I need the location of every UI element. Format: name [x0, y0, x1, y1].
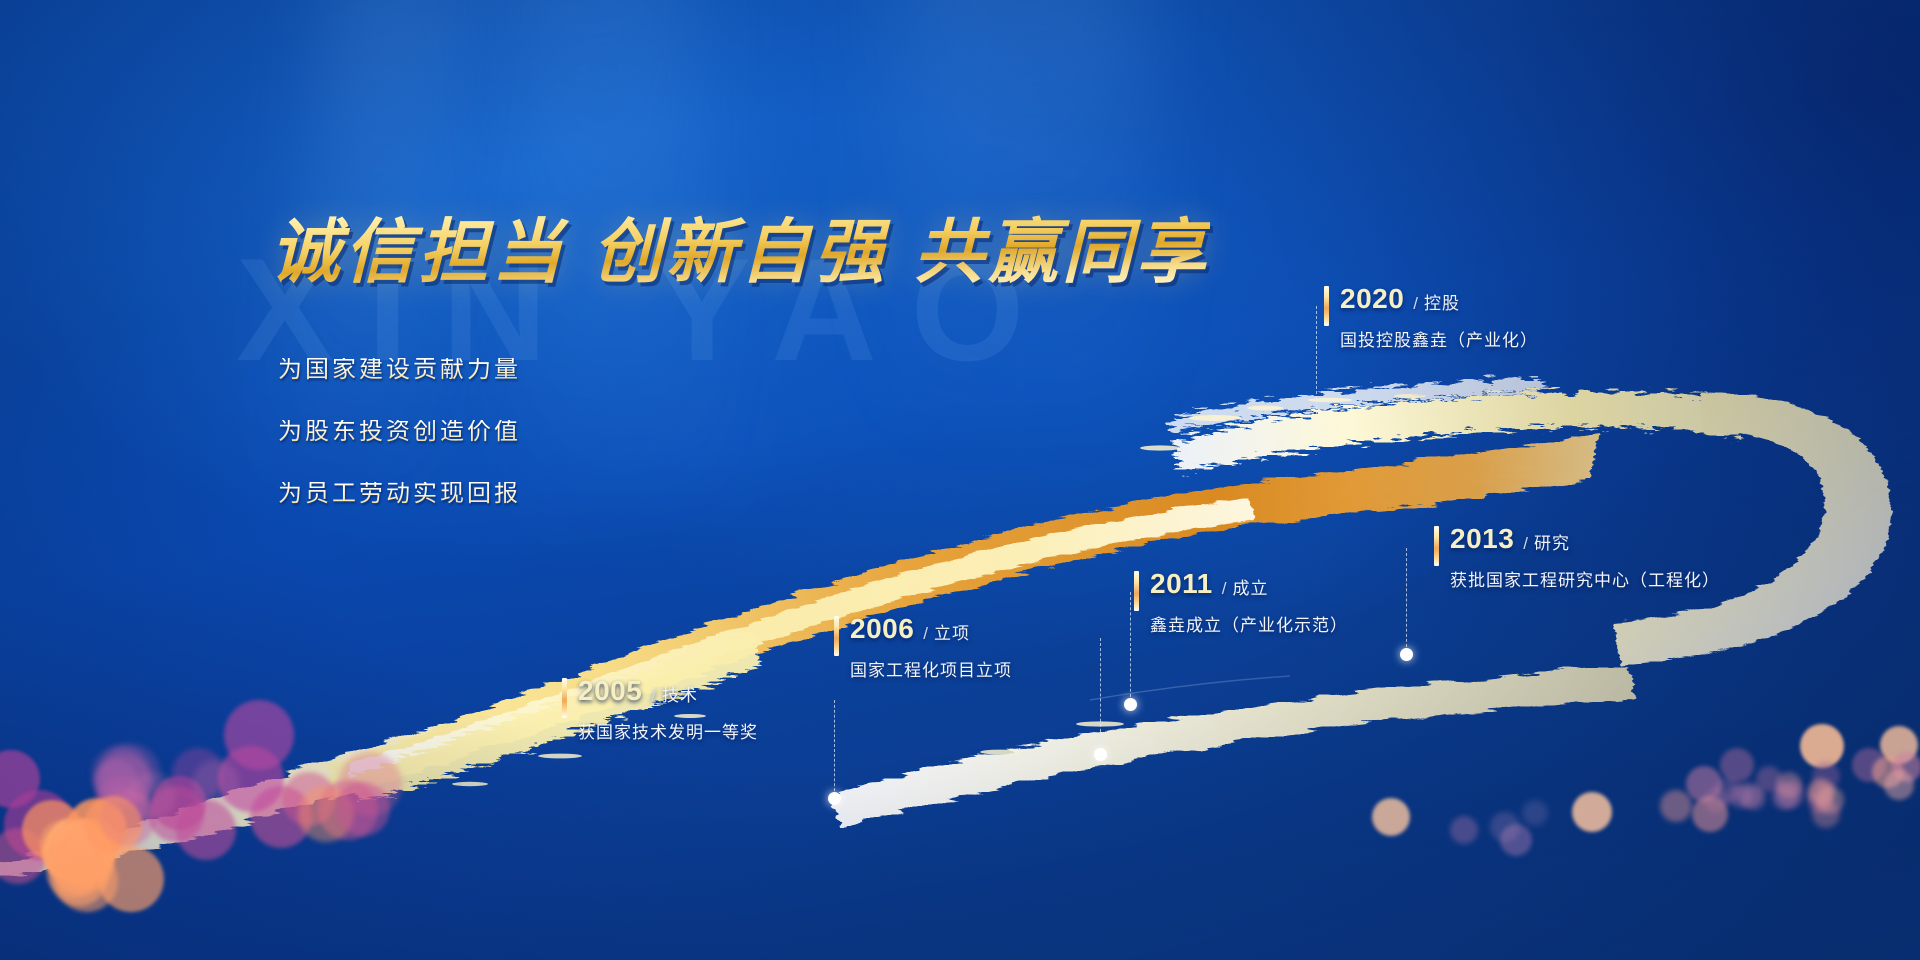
- bokeh-dot: [336, 782, 390, 836]
- headline-part-1: 诚信担当: [270, 215, 566, 292]
- slogan-line-1: 为国家建设贡献力量: [278, 358, 521, 382]
- bokeh-dot: [1450, 816, 1478, 844]
- bokeh-dot: [1522, 800, 1548, 826]
- timeline-year: 2005: [578, 677, 642, 705]
- timeline-description: 获国家技术发明一等奖: [578, 718, 758, 743]
- timeline-description: 国投控股鑫垚（产业化）: [1340, 326, 1538, 351]
- bokeh-dot: [1812, 800, 1840, 828]
- timeline-heading: 2013 /研究: [1450, 525, 1720, 553]
- timeline-category: /技术: [651, 687, 698, 705]
- timeline-description: 鑫垚成立（产业化示范）: [1150, 611, 1348, 636]
- timeline-item-2006[interactable]: 2006 /立项 国家工程化项目立项: [850, 615, 1012, 681]
- page-title: 诚信担当创新自强共赢同享: [270, 196, 1210, 297]
- timeline-category: /控股: [1413, 295, 1460, 313]
- bokeh-dot: [224, 700, 294, 770]
- timeline-dot-2006[interactable]: [1094, 748, 1107, 761]
- timeline-category-label: 成立: [1232, 579, 1268, 598]
- timeline-leader-line-2013: [1406, 548, 1407, 652]
- timeline-year: 2020: [1340, 285, 1404, 313]
- bokeh-dot: [1692, 796, 1728, 832]
- bokeh-dot: [1660, 790, 1692, 822]
- timeline-item-2020[interactable]: 2020 /控股 国投控股鑫垚（产业化）: [1340, 285, 1538, 351]
- timeline-category-label: 立项: [934, 624, 970, 643]
- timeline-heading: 2020 /控股: [1340, 285, 1538, 313]
- timeline-separator: /: [1413, 294, 1419, 313]
- timeline-category: /研究: [1523, 535, 1570, 553]
- bokeh-dot: [1372, 798, 1410, 836]
- timeline-accent-bar: [1324, 286, 1329, 326]
- timeline-description: 获批国家工程研究中心（工程化）: [1450, 566, 1720, 591]
- slogan-list: 为国家建设贡献力量 为股东投资创造价值 为员工劳动实现回报: [278, 358, 521, 506]
- timeline-leader-line-2006: [1100, 638, 1101, 752]
- timeline-heading: 2011 /成立: [1150, 570, 1348, 598]
- timeline-accent-bar: [834, 616, 839, 656]
- timeline-separator: /: [1523, 534, 1529, 553]
- timeline-leader-line-2011: [1130, 592, 1131, 702]
- timeline-year: 2006: [850, 615, 914, 643]
- timeline-separator: /: [923, 624, 929, 643]
- bokeh-dot: [192, 760, 240, 808]
- timeline-leader-line-2020: [1316, 306, 1317, 414]
- bokeh-dot: [1736, 782, 1762, 808]
- timeline-accent-bar: [1434, 526, 1439, 566]
- timeline-leader-line-2005: [834, 700, 835, 796]
- timeline-year: 2011: [1150, 570, 1213, 598]
- bokeh-dot: [98, 846, 164, 912]
- timeline-item-2011[interactable]: 2011 /成立 鑫垚成立（产业化示范）: [1150, 570, 1348, 636]
- timeline-category-label: 技术: [662, 686, 698, 705]
- timeline-item-2013[interactable]: 2013 /研究 获批国家工程研究中心（工程化）: [1450, 525, 1720, 591]
- slogan-line-3: 为员工劳动实现回报: [278, 482, 521, 506]
- timeline-category-label: 控股: [1424, 294, 1460, 313]
- headline-part-2: 创新自强: [592, 215, 888, 292]
- timeline-dot-2013[interactable]: [1400, 648, 1413, 661]
- timeline-category-label: 研究: [1534, 534, 1570, 553]
- headline-part-3: 共赢同享: [914, 215, 1210, 292]
- timeline-accent-bar: [562, 678, 567, 718]
- banner-canvas: XIN YAO 诚信担当创新自强共赢同享 为国家建设贡献力量 为股东投资创造价值…: [0, 0, 1920, 960]
- timeline-category: /立项: [923, 625, 970, 643]
- bokeh-dot: [1776, 772, 1802, 798]
- timeline-separator: /: [651, 686, 657, 705]
- bokeh-dot: [1490, 812, 1520, 842]
- timeline-description: 国家工程化项目立项: [850, 656, 1012, 681]
- bokeh-dot: [128, 772, 176, 820]
- timeline-separator: /: [1222, 579, 1228, 598]
- bokeh-dot: [1720, 748, 1754, 782]
- slogan-line-2: 为股东投资创造价值: [278, 420, 521, 444]
- timeline-dot-2011[interactable]: [1124, 698, 1137, 711]
- timeline-item-2005[interactable]: 2005 /技术 获国家技术发明一等奖: [578, 677, 758, 743]
- timeline-category: /成立: [1222, 580, 1269, 598]
- bokeh-dot: [176, 800, 236, 860]
- timeline-accent-bar: [1134, 571, 1139, 611]
- timeline-year: 2013: [1450, 525, 1514, 553]
- bokeh-dot: [1572, 792, 1612, 832]
- timeline-heading: 2005 /技术: [578, 677, 758, 705]
- bokeh-dot: [1884, 770, 1914, 800]
- timeline-heading: 2006 /立项: [850, 615, 1012, 643]
- timeline-dot-2005[interactable]: [828, 792, 841, 805]
